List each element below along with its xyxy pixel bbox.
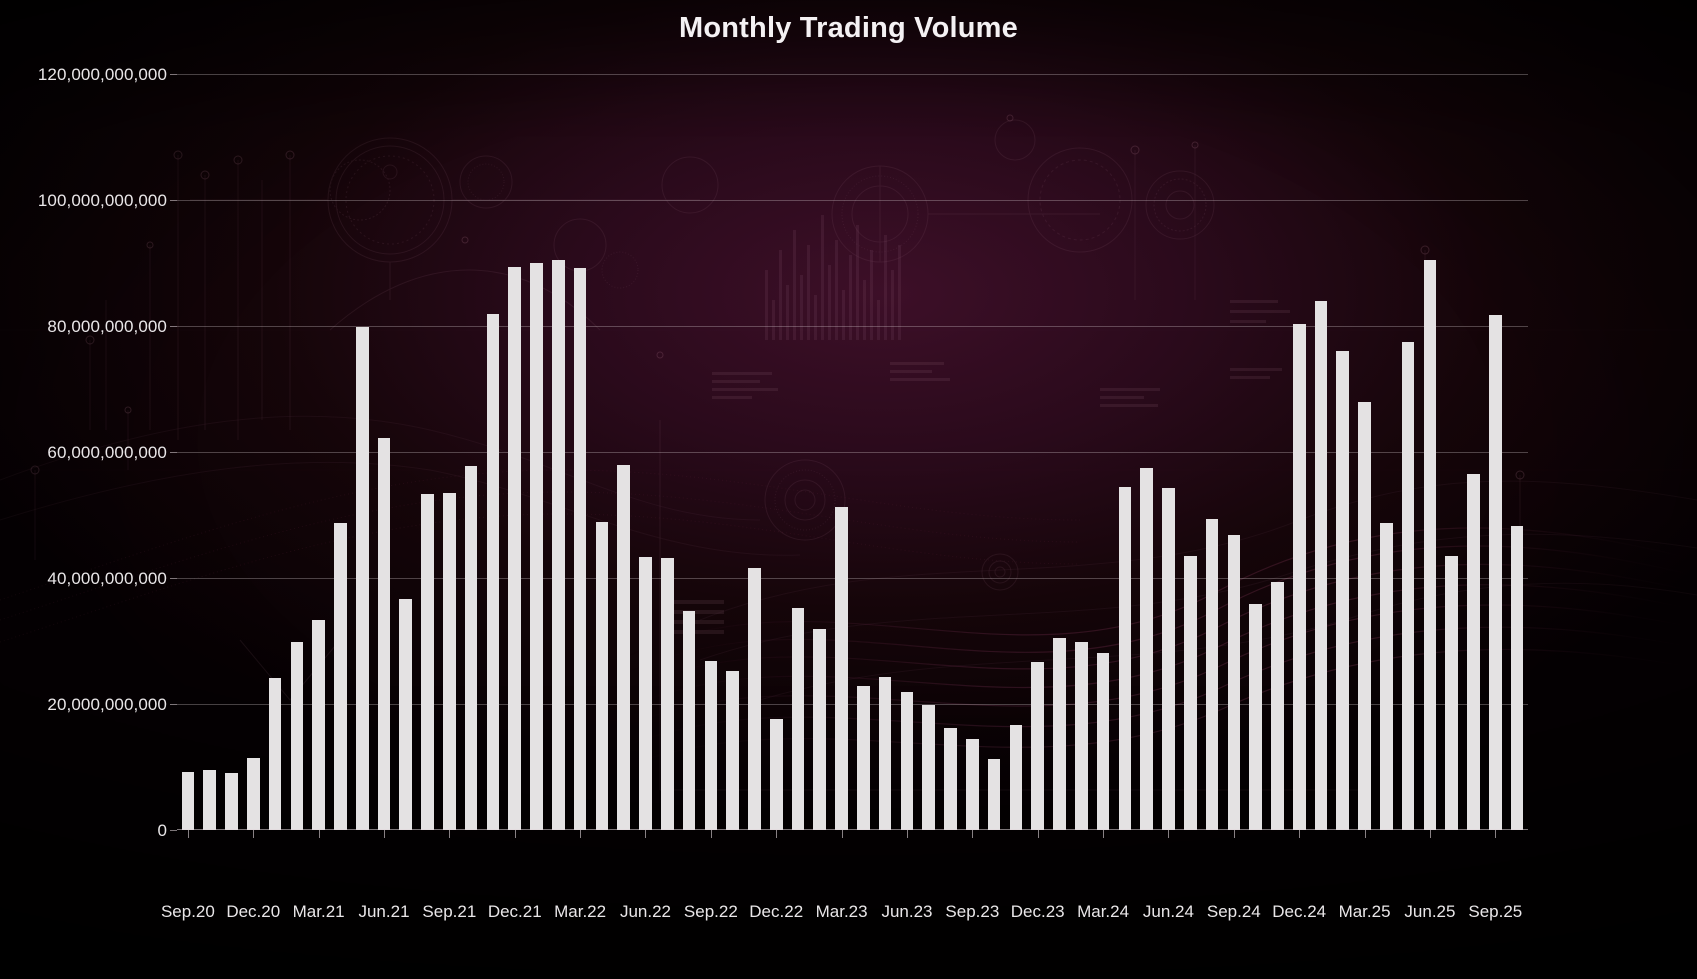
bar	[487, 314, 500, 830]
bar	[1031, 662, 1044, 830]
bar	[857, 686, 870, 830]
bar	[726, 671, 739, 830]
x-axis-label: Sep.22	[684, 903, 738, 920]
bar	[770, 719, 783, 831]
bar	[399, 599, 412, 830]
bar	[291, 642, 304, 830]
x-axis-label: Jun.25	[1404, 903, 1455, 920]
bar	[988, 759, 1001, 830]
bar	[1119, 487, 1132, 830]
x-axis-tick	[319, 830, 320, 838]
x-axis-label: Dec.22	[749, 903, 803, 920]
bar	[705, 661, 718, 830]
bar	[1293, 324, 1306, 830]
x-axis-tick	[515, 830, 516, 838]
y-axis-label: 80,000,000,000	[0, 318, 167, 335]
y-axis-tick	[170, 830, 177, 831]
x-axis-tick	[1103, 830, 1104, 838]
bar	[596, 522, 609, 830]
bar	[574, 268, 587, 830]
gridline	[177, 200, 1528, 201]
bar	[269, 678, 282, 830]
x-axis-label: Mar.21	[293, 903, 345, 920]
chart-title: Monthly Trading Volume	[0, 12, 1697, 45]
bar	[901, 692, 914, 830]
bar	[182, 772, 195, 830]
x-axis-label: Jun.22	[620, 903, 671, 920]
gridline	[177, 74, 1528, 75]
x-axis-label: Mar.25	[1339, 903, 1391, 920]
y-axis-tick	[170, 200, 177, 201]
x-axis-label: Dec.24	[1272, 903, 1326, 920]
x-axis-line	[177, 829, 1528, 830]
x-axis-tick	[711, 830, 712, 838]
x-axis-label: Dec.23	[1011, 903, 1065, 920]
x-axis-tick	[907, 830, 908, 838]
bar	[792, 608, 805, 830]
bar	[1228, 535, 1241, 830]
bar	[1097, 653, 1110, 830]
bar	[552, 260, 565, 830]
x-axis-tick	[1168, 830, 1169, 838]
x-axis-tick	[384, 830, 385, 838]
chart-container: Monthly Trading Volume 020,000,000,00040…	[0, 0, 1697, 979]
x-axis-tick	[1299, 830, 1300, 838]
y-axis-label: 20,000,000,000	[0, 696, 167, 713]
bar	[813, 629, 826, 830]
bar	[748, 568, 761, 830]
y-axis-tick	[170, 704, 177, 705]
bar	[661, 558, 674, 830]
x-axis-tick	[776, 830, 777, 838]
bar	[378, 438, 391, 830]
bar	[1467, 474, 1480, 830]
bar	[944, 728, 957, 830]
x-axis-label: Dec.20	[226, 903, 280, 920]
y-axis-label: 60,000,000,000	[0, 444, 167, 461]
x-axis-label: Sep.20	[161, 903, 215, 920]
bar	[1380, 523, 1393, 830]
x-axis-label: Sep.25	[1468, 903, 1522, 920]
y-axis-tick	[170, 74, 177, 75]
bar	[1249, 604, 1262, 830]
bar	[879, 677, 892, 830]
bar	[1315, 301, 1328, 830]
x-axis-label: Jun.23	[881, 903, 932, 920]
bar	[508, 267, 521, 830]
y-axis-tick	[170, 578, 177, 579]
bar	[683, 611, 696, 830]
x-axis-label: Jun.21	[358, 903, 409, 920]
y-axis-tick	[170, 452, 177, 453]
bar	[835, 507, 848, 830]
y-axis-label: 100,000,000,000	[0, 192, 167, 209]
bar	[1053, 638, 1066, 830]
x-axis-tick	[449, 830, 450, 838]
bar	[1424, 260, 1437, 830]
x-axis-label: Mar.24	[1077, 903, 1129, 920]
x-axis-tick	[645, 830, 646, 838]
bar	[530, 263, 543, 830]
bar	[465, 466, 478, 830]
bar	[1075, 642, 1088, 830]
x-axis-label: Sep.21	[422, 903, 476, 920]
bar	[1445, 556, 1458, 830]
bar	[1358, 402, 1371, 830]
bar	[922, 705, 935, 830]
x-axis-label: Sep.23	[945, 903, 999, 920]
bar	[1010, 725, 1023, 830]
bar	[1511, 526, 1524, 830]
bar	[1140, 468, 1153, 830]
x-axis-tick	[1430, 830, 1431, 838]
bar	[334, 523, 347, 830]
bar	[443, 493, 456, 830]
x-axis-label: Jun.24	[1143, 903, 1194, 920]
bar	[421, 494, 434, 830]
plot-area	[177, 74, 1528, 830]
bar	[966, 739, 979, 830]
bar	[247, 758, 260, 830]
bar	[1489, 315, 1502, 830]
y-axis-label: 0	[0, 822, 167, 839]
bar	[1184, 556, 1197, 830]
bar	[312, 620, 325, 830]
y-axis-tick	[170, 326, 177, 327]
bar	[356, 327, 369, 830]
bar	[1162, 488, 1175, 830]
x-axis-tick	[253, 830, 254, 838]
bar	[1271, 582, 1284, 830]
x-axis-tick	[1365, 830, 1366, 838]
bar	[1336, 351, 1349, 830]
x-axis-label: Mar.23	[816, 903, 868, 920]
bar	[639, 557, 652, 830]
x-axis-label: Mar.22	[554, 903, 606, 920]
x-axis-tick	[580, 830, 581, 838]
bar	[617, 465, 630, 830]
x-axis-tick	[188, 830, 189, 838]
x-axis-tick	[1234, 830, 1235, 838]
bar	[225, 773, 238, 830]
bar	[1402, 342, 1415, 830]
y-axis-label: 120,000,000,000	[0, 66, 167, 83]
x-axis-tick	[1038, 830, 1039, 838]
y-axis-label: 40,000,000,000	[0, 570, 167, 587]
x-axis-label: Sep.24	[1207, 903, 1261, 920]
x-axis-tick	[1495, 830, 1496, 838]
bar	[203, 770, 216, 830]
x-axis-label: Dec.21	[488, 903, 542, 920]
x-axis-tick	[842, 830, 843, 838]
bar	[1206, 519, 1219, 830]
x-axis-tick	[972, 830, 973, 838]
